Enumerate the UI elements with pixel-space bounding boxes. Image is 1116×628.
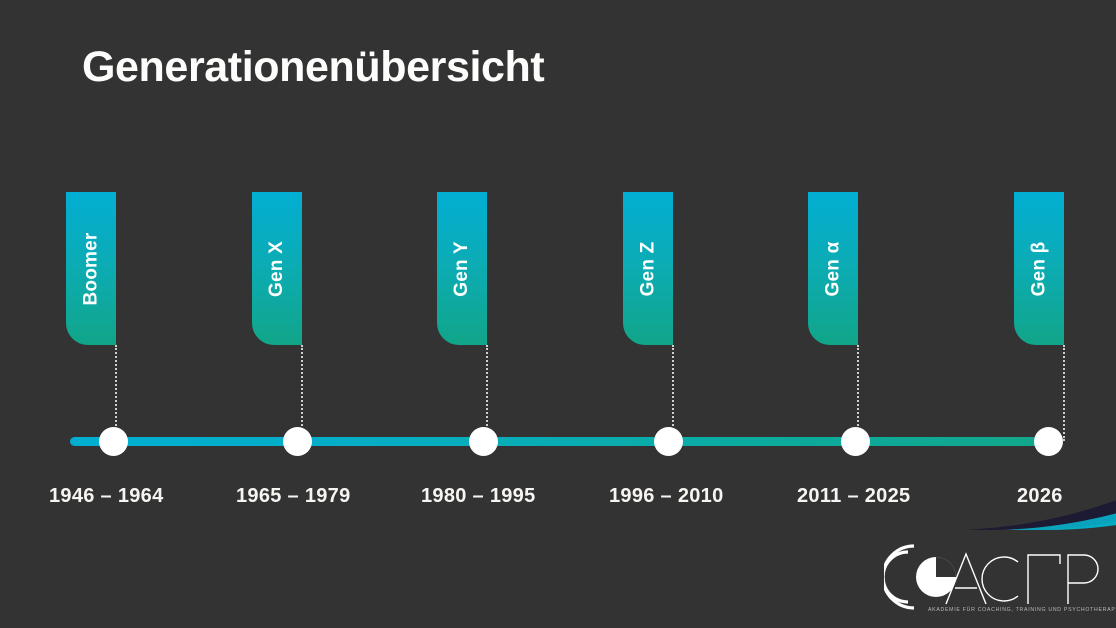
generation-date-range: 1980 – 1995 bbox=[421, 485, 536, 508]
generation-name-text: Gen Y bbox=[451, 241, 473, 297]
generation-date-range: 2011 – 2025 bbox=[797, 485, 910, 508]
timeline-axis bbox=[70, 437, 1054, 446]
timeline-dot[interactable] bbox=[841, 427, 870, 456]
generation-card-label: Gen α bbox=[808, 192, 858, 345]
generation-name-text: Gen α bbox=[822, 241, 844, 296]
generation-connector-line bbox=[1063, 345, 1065, 441]
generation-name-text: Gen X bbox=[266, 241, 288, 297]
logo: AKADEMIE FÜR COACHING, TRAINING UND PSYC… bbox=[884, 538, 1100, 616]
generation-name-text: Gen Z bbox=[637, 241, 659, 296]
logo-tagline: AKADEMIE FÜR COACHING, TRAINING UND PSYC… bbox=[928, 607, 1116, 613]
generation-card-label: Gen Y bbox=[437, 192, 487, 345]
timeline-dot[interactable] bbox=[99, 427, 128, 456]
generation-card[interactable]: Gen α bbox=[808, 192, 858, 345]
generation-date-range: 2026 bbox=[1017, 485, 1063, 508]
timeline-dot[interactable] bbox=[469, 427, 498, 456]
generation-card[interactable]: Boomer bbox=[66, 192, 116, 345]
generation-card[interactable]: Gen β bbox=[1014, 192, 1064, 345]
generation-date-range: 1965 – 1979 bbox=[236, 485, 351, 508]
generation-name-text: Gen β bbox=[1028, 241, 1050, 296]
generation-card-label: Boomer bbox=[66, 192, 116, 345]
generation-timeline: Boomer1946 – 1964Gen X1965 – 1979Gen Y19… bbox=[0, 0, 1116, 628]
generation-date-range: 1996 – 2010 bbox=[609, 485, 724, 508]
generation-card-label: Gen X bbox=[252, 192, 302, 345]
generation-name-text: Boomer bbox=[80, 232, 102, 305]
generation-date-range: 1946 – 1964 bbox=[49, 485, 164, 508]
generation-card[interactable]: Gen Z bbox=[623, 192, 673, 345]
timeline-dot[interactable] bbox=[1034, 427, 1063, 456]
slide-canvas: Generationenübersicht Boomer1946 – 1964G… bbox=[0, 0, 1116, 628]
timeline-dot[interactable] bbox=[654, 427, 683, 456]
generation-card-label: Gen Z bbox=[623, 192, 673, 345]
timeline-dot[interactable] bbox=[283, 427, 312, 456]
generation-card[interactable]: Gen Y bbox=[437, 192, 487, 345]
generation-card[interactable]: Gen X bbox=[252, 192, 302, 345]
generation-card-label: Gen β bbox=[1014, 192, 1064, 345]
